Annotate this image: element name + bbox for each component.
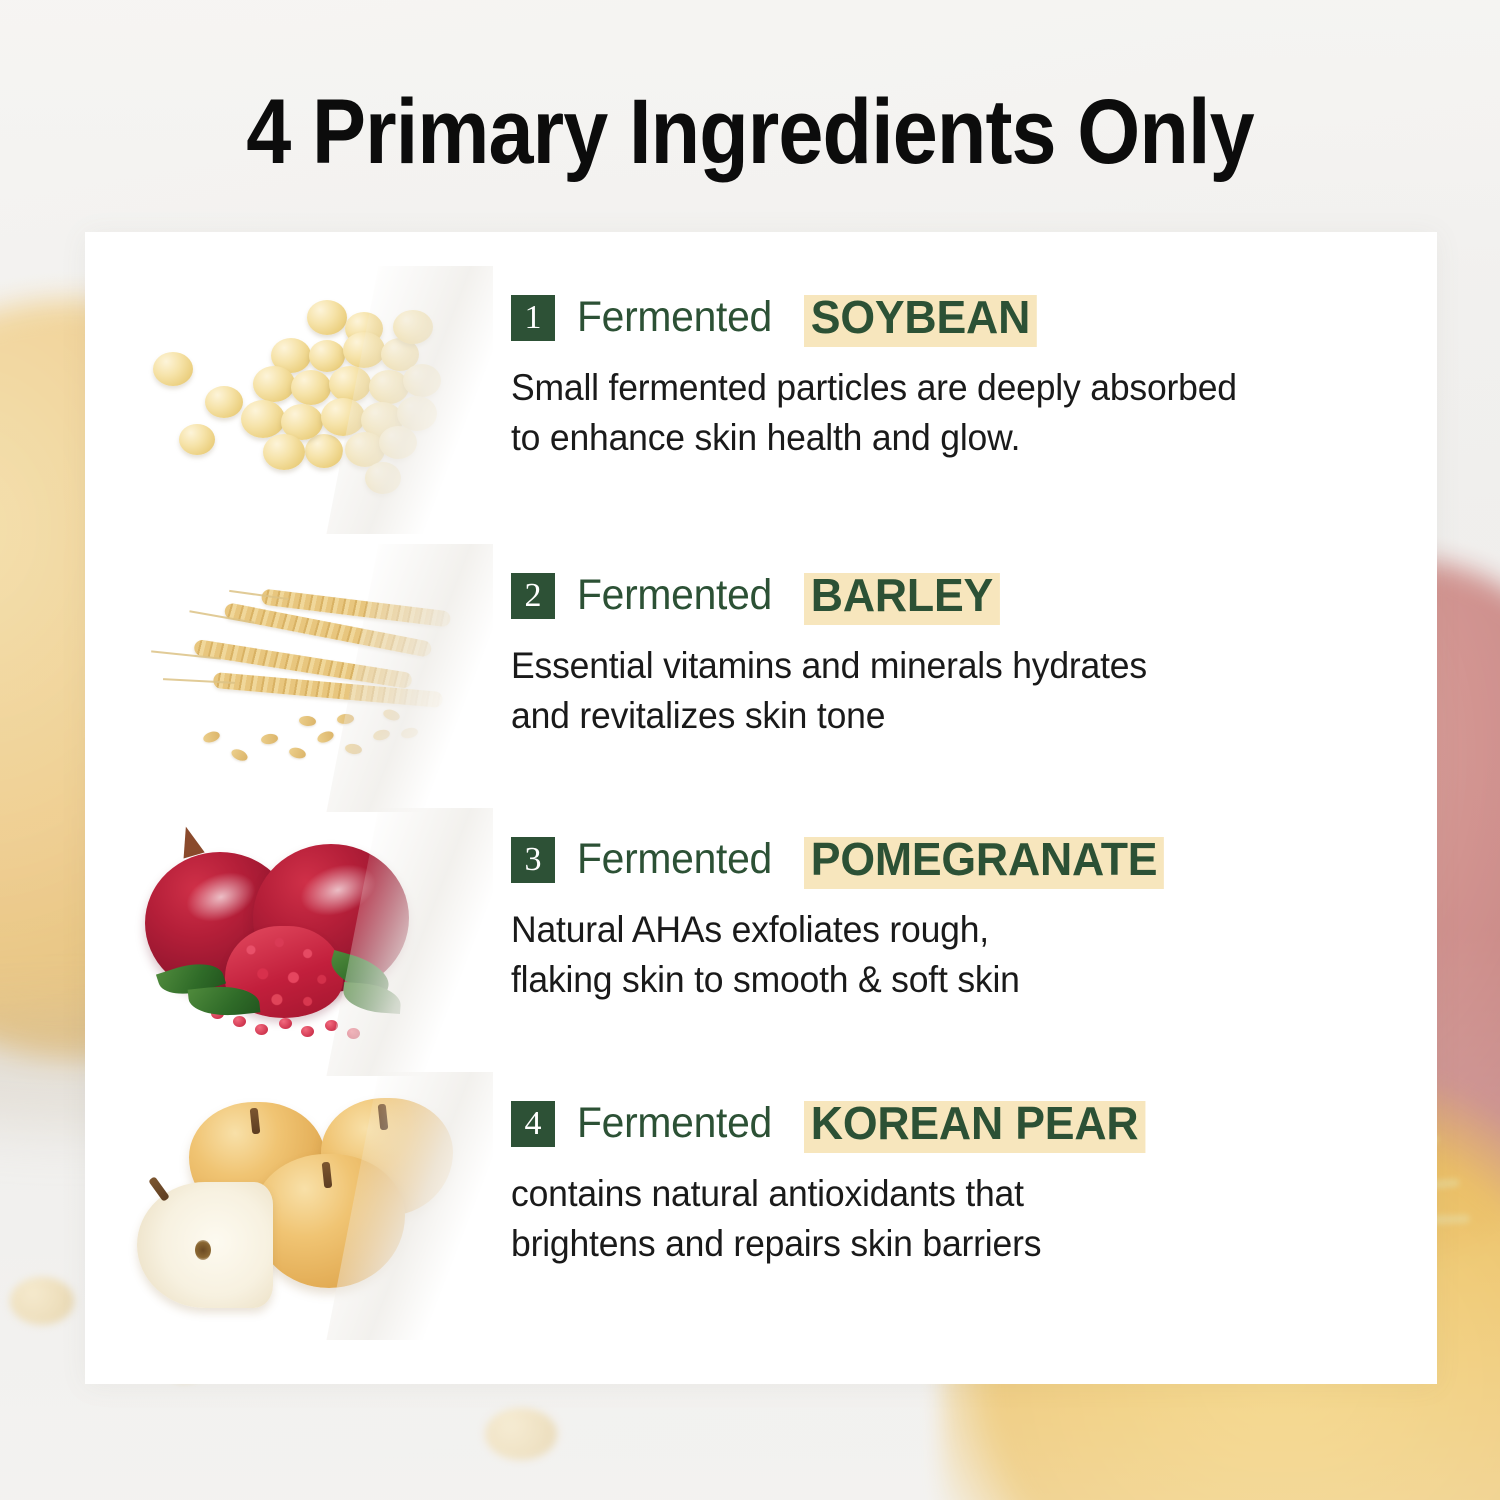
- ingredient-name: BARLEY: [804, 566, 1000, 625]
- ingredient-number-badge: 4: [511, 1101, 555, 1147]
- ingredient-name: POMEGRANATE: [804, 830, 1164, 889]
- description-line: Small fermented particles are deeply abs…: [511, 363, 1237, 413]
- description-line: brightens and repairs skin barriers: [511, 1219, 1130, 1269]
- description-line: and revitalizes skin tone: [511, 691, 1147, 741]
- ingredient-text-block: 4 Fermented KOREAN PEAR contains natural…: [511, 1072, 1156, 1269]
- ingredient-text-block: 2 Fermented BARLEY Essential vitamins an…: [511, 544, 1173, 741]
- ingredient-heading: 3 Fermented POMEGRANATE: [511, 830, 1176, 889]
- description-line: to enhance skin health and glow.: [511, 413, 1237, 463]
- ingredient-number-badge: 3: [511, 837, 555, 883]
- ingredients-card: 1 Fermented SOYBEAN Small fermented part…: [85, 232, 1437, 1384]
- list-item: 3 Fermented POMEGRANATE Natural AHAs exf…: [85, 808, 1437, 1078]
- pomegranate-photo: [93, 808, 493, 1076]
- ingredient-number-badge: 1: [511, 295, 555, 341]
- ingredient-name: KOREAN PEAR: [804, 1094, 1145, 1153]
- ingredient-description: contains natural antioxidants that brigh…: [511, 1169, 1130, 1269]
- ingredient-text-block: 3 Fermented POMEGRANATE Natural AHAs exf…: [511, 808, 1176, 1005]
- description-line: Natural AHAs exfoliates rough,: [511, 905, 1149, 955]
- list-item: 1 Fermented SOYBEAN Small fermented part…: [85, 266, 1437, 536]
- ingredient-prefix: Fermented: [577, 1099, 772, 1148]
- ingredient-heading: 4 Fermented KOREAN PEAR: [511, 1094, 1156, 1153]
- description-line: flaking skin to smooth & soft skin: [511, 955, 1149, 1005]
- ingredient-description: Small fermented particles are deeply abs…: [511, 363, 1237, 463]
- ingredient-prefix: Fermented: [577, 293, 772, 342]
- ingredient-prefix: Fermented: [577, 835, 772, 884]
- ingredient-description: Natural AHAs exfoliates rough, flaking s…: [511, 905, 1149, 1005]
- ingredient-heading: 1 Fermented SOYBEAN: [511, 288, 1267, 347]
- ingredient-name: SOYBEAN: [804, 288, 1037, 347]
- ingredient-prefix: Fermented: [577, 571, 772, 620]
- list-item: 4 Fermented KOREAN PEAR contains natural…: [85, 1072, 1437, 1342]
- ingredient-number-badge: 2: [511, 573, 555, 619]
- ingredients-list: 1 Fermented SOYBEAN Small fermented part…: [85, 232, 1437, 1384]
- ingredient-heading: 2 Fermented BARLEY: [511, 566, 1173, 625]
- ingredient-description: Essential vitamins and minerals hydrates…: [511, 641, 1147, 741]
- description-line: contains natural antioxidants that: [511, 1169, 1130, 1219]
- barley-photo: [93, 544, 493, 812]
- ingredient-text-block: 1 Fermented SOYBEAN Small fermented part…: [511, 266, 1267, 463]
- list-item: 2 Fermented BARLEY Essential vitamins an…: [85, 544, 1437, 814]
- page-title: 4 Primary Ingredients Only: [90, 86, 1410, 178]
- infographic-page: 4 Primary Ingredients Only: [0, 0, 1500, 1500]
- soybean-photo: [93, 266, 493, 534]
- korean-pear-photo: [93, 1072, 493, 1340]
- description-line: Essential vitamins and minerals hydrates: [511, 641, 1147, 691]
